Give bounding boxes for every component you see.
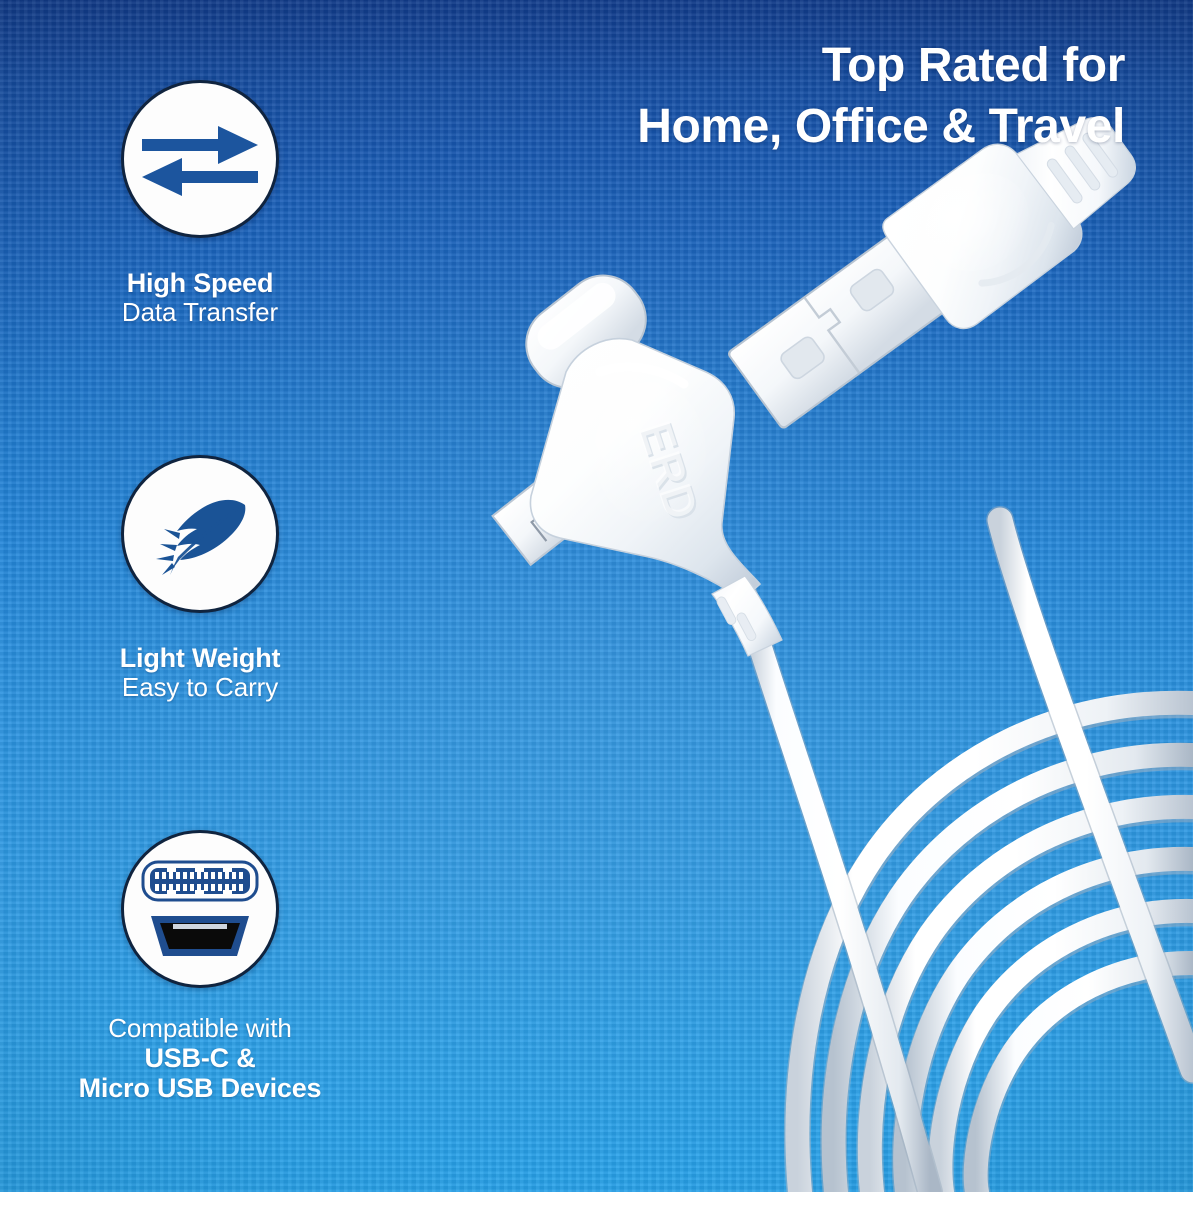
feature-caption-light-weight: Light Weight Easy to Carry bbox=[0, 643, 400, 702]
feature-compat-line-1: Compatible with bbox=[0, 1014, 400, 1043]
headline-line-2: Home, Office & Travel bbox=[485, 97, 1125, 158]
product-feature-banner: ERD ERD Top Rated for Home, Office & Tra… bbox=[0, 0, 1193, 1215]
feature-subtitle-light-weight: Easy to Carry bbox=[0, 673, 400, 702]
micro-usb-port-glyph bbox=[151, 916, 249, 956]
feature-badge-high-speed bbox=[121, 80, 279, 238]
headline: Top Rated for Home, Office & Travel bbox=[485, 36, 1125, 158]
feature-badge-light-weight bbox=[121, 455, 279, 613]
feature-high-speed: High Speed Data Transfer bbox=[0, 80, 400, 327]
feature-title-light-weight: Light Weight bbox=[0, 643, 400, 673]
feature-light-weight: Light Weight Easy to Carry bbox=[0, 455, 400, 702]
data-transfer-arrows-icon bbox=[136, 109, 264, 209]
feature-compat-line-3: Micro USB Devices bbox=[0, 1073, 400, 1103]
usb-ports-icon bbox=[139, 854, 261, 964]
usb-a-port-glyph bbox=[143, 862, 257, 900]
feather-icon bbox=[144, 489, 256, 579]
feature-title-high-speed: High Speed bbox=[0, 268, 400, 298]
feature-subtitle-high-speed: Data Transfer bbox=[0, 298, 400, 327]
feature-caption-compatibility: Compatible with USB-C & Micro USB Device… bbox=[0, 1014, 400, 1104]
feature-compatibility: Compatible with USB-C & Micro USB Device… bbox=[0, 830, 400, 1104]
feature-compat-line-2: USB-C & bbox=[0, 1043, 400, 1073]
bottom-white-strip bbox=[0, 1192, 1193, 1215]
feature-badge-compatibility bbox=[121, 830, 279, 988]
feature-caption-high-speed: High Speed Data Transfer bbox=[0, 268, 400, 327]
headline-line-1: Top Rated for bbox=[485, 36, 1125, 97]
